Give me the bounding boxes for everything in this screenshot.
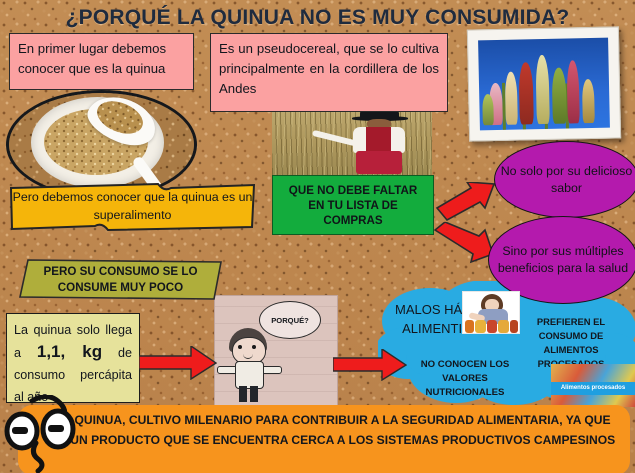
conclusion-text: LA QUINUA, CULTIVO MILENARIO PARA CONTRI…: [50, 410, 616, 450]
benefit-oval-taste: No solo por su delicioso sabor: [494, 141, 635, 218]
intro-pink-box-1: En primer lugar debemos conocer que es l…: [9, 33, 194, 90]
green-box-line-1: QUE NO DEBE FALTAR: [273, 183, 433, 198]
superfood-yellow-banner: Pero debemos conocer que la quinua es un…: [8, 179, 257, 233]
olive-banner-text: PERO SU CONSUMO SE LO CONSUME MUY POCO: [18, 264, 223, 296]
benefit-oval-taste-text: No solo por su delicioso sabor: [495, 163, 635, 197]
farmer-figure: [349, 108, 419, 175]
boy-thinking-panel: PORQUÉ?: [214, 295, 338, 409]
red-arrow-up-right-icon: [435, 182, 497, 222]
low-consumption-olive-banner: PERO SU CONSUMO SE LO CONSUME MUY POCO: [18, 258, 223, 302]
page-title: ¿PORQUÉ LA QUINUA NO ES MUY CONSUMIDA?: [0, 6, 635, 30]
red-arrow-right-icon: [139, 346, 217, 380]
shopping-list-green-box: QUE NO DEBE FALTAR EN TU LISTA DE COMPRA…: [272, 175, 434, 235]
boy-figure: [221, 328, 283, 402]
framed-photo-inner: [478, 38, 610, 131]
olive-banner-line-1: PERO SU CONSUMO SE LO: [18, 264, 223, 280]
girl-eating-junk-food-photo: [462, 291, 520, 334]
cloud-left-text: NO CONOCEN LOS VALORES NUTRICIONALES: [406, 358, 524, 400]
infographic-poster: ¿PORQUÉ LA QUINUA NO ES MUY CONSUMIDA? E…: [0, 0, 635, 473]
intro-pink-box-2-text: Es un pseudocereal, que se lo cultiva pr…: [219, 39, 439, 99]
processed-foods-label: Alimentos procesados: [561, 385, 625, 392]
fact-value: 1,1, kg: [37, 342, 102, 361]
processed-foods-label-band: Alimentos procesados: [551, 382, 635, 395]
olive-banner-line-2: CONSUME MUY POCO: [18, 280, 223, 296]
intro-pink-box-1-text: En primer lugar debemos conocer que es l…: [18, 41, 166, 76]
quinoa-plants-framed-photo: [467, 26, 621, 141]
benefit-oval-health-text: Sino por sus múltiples beneficios para l…: [489, 243, 635, 277]
cloud-right-text: PREFIEREN EL CONSUMO DE ALIMENTOS PROCES…: [521, 315, 621, 371]
thought-bubble-text: PORQUÉ?: [271, 316, 309, 325]
red-arrow-down-right-icon: [433, 222, 495, 264]
green-box-line-2: EN TU LISTA DE: [273, 198, 433, 213]
green-box-line-3: COMPRAS: [273, 213, 433, 228]
intro-pink-box-2: Es un pseudocereal, que se lo cultiva pr…: [210, 33, 448, 112]
red-arrow-right-to-clouds-icon: [333, 349, 407, 381]
green-box-text: QUE NO DEBE FALTAR EN TU LISTA DE COMPRA…: [273, 183, 433, 228]
doodle-face-icon: [2, 395, 94, 473]
conclusion-banner: LA QUINUA, CULTIVO MILENARIO PARA CONTRI…: [0, 399, 635, 473]
superfood-banner-text: Pero debemos conocer que la quinua es un…: [8, 188, 257, 224]
per-capita-fact-box: La quinua solo llega a 1,1, kg de consum…: [6, 313, 140, 403]
